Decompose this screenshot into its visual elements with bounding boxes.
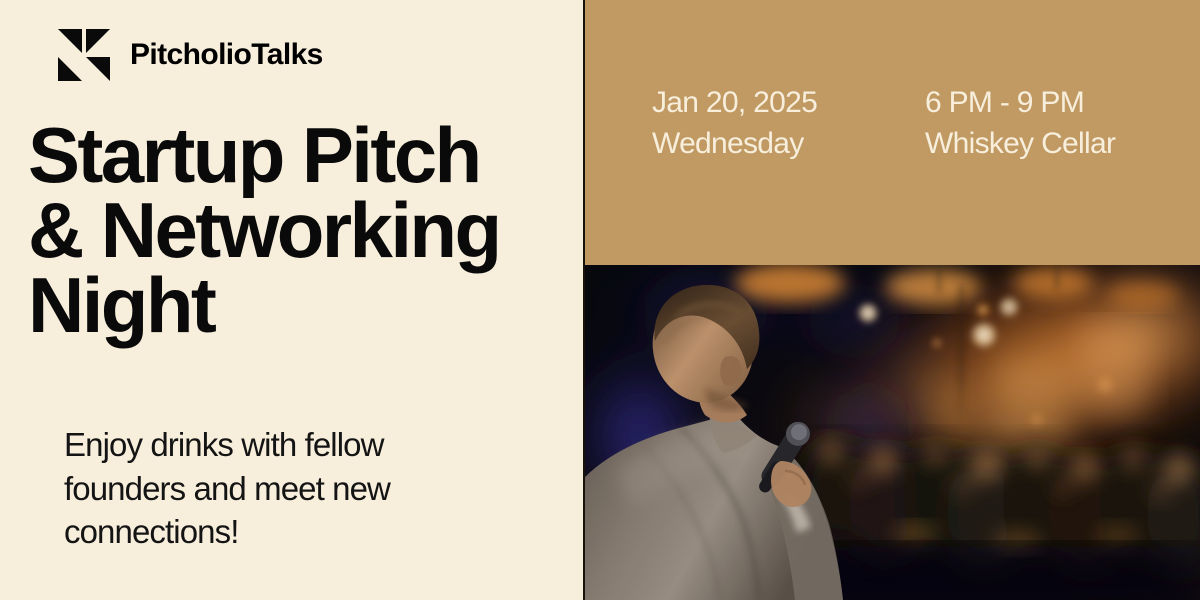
event-date: Jan 20, 2025 xyxy=(652,82,925,123)
headline-line-3: Night xyxy=(28,268,573,343)
event-description: Enjoy drinks with fellow founders and me… xyxy=(64,423,564,554)
speaker-audience-illustration xyxy=(585,265,1200,600)
brand-lockup: PitcholioTalks xyxy=(58,29,323,81)
event-time-block: 6 PM - 9 PM Whiskey Cellar xyxy=(925,82,1115,165)
event-venue: Whiskey Cellar xyxy=(925,123,1115,164)
description-line-3: connections! xyxy=(64,510,564,554)
event-poster: PitcholioTalks Startup Pitch & Networkin… xyxy=(0,0,1200,600)
description-line-1: Enjoy drinks with fellow xyxy=(64,423,564,467)
headline-line-1: Startup Pitch xyxy=(28,118,573,193)
event-weekday: Wednesday xyxy=(652,123,925,164)
page-title: Startup Pitch & Networking Night xyxy=(28,118,573,343)
headline-line-2: & Networking xyxy=(28,193,573,268)
event-info-bar: Jan 20, 2025 Wednesday 6 PM - 9 PM Whisk… xyxy=(585,0,1200,265)
info-columns: Jan 20, 2025 Wednesday 6 PM - 9 PM Whisk… xyxy=(652,82,1115,165)
left-content-panel: PitcholioTalks Startup Pitch & Networkin… xyxy=(0,0,583,600)
pinwheel-triangles-logo-icon xyxy=(58,29,110,81)
event-photo xyxy=(585,265,1200,600)
description-line-2: founders and meet new xyxy=(64,467,564,511)
event-date-block: Jan 20, 2025 Wednesday xyxy=(652,82,925,165)
brand-name: PitcholioTalks xyxy=(130,40,323,70)
event-time: 6 PM - 9 PM xyxy=(925,82,1115,123)
